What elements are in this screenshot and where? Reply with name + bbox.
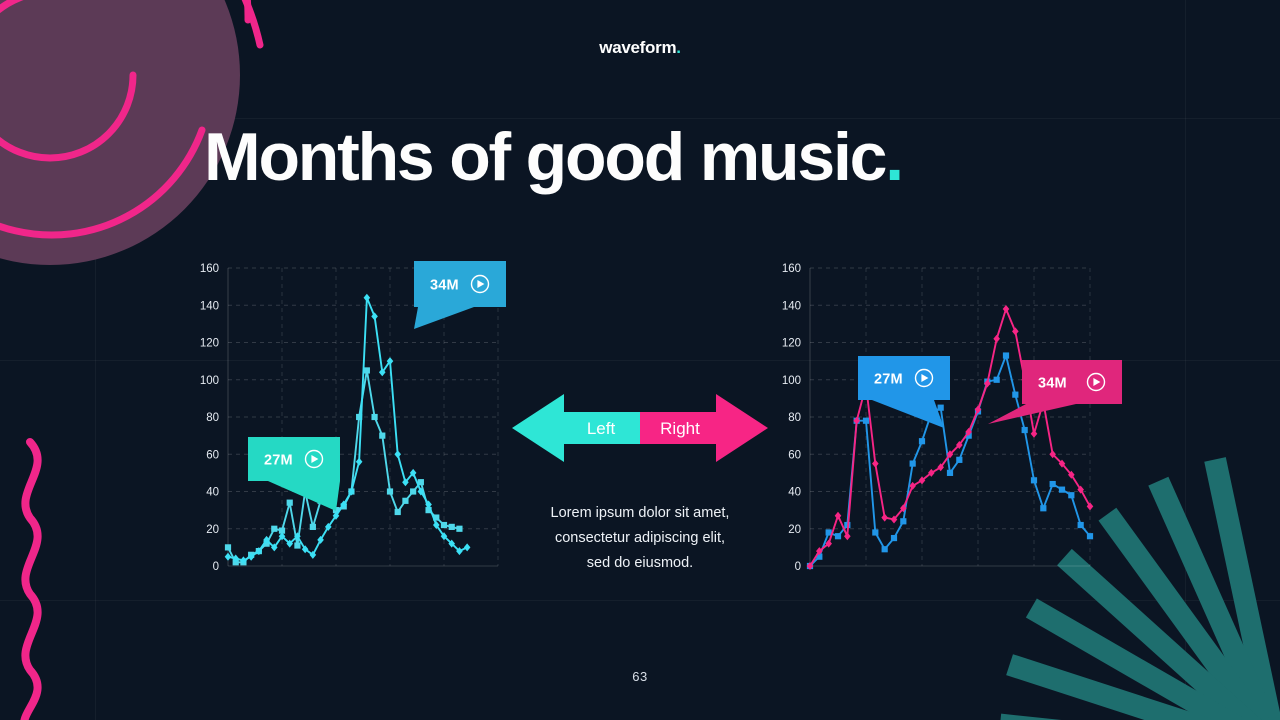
chart-data-point bbox=[379, 433, 385, 439]
chart-data-point bbox=[1078, 522, 1084, 528]
chart-data-point bbox=[287, 500, 293, 506]
slide-root: waveform. Months of good music. 02040608… bbox=[0, 0, 1280, 720]
center-body-text: Lorem ipsum dolor sit amet, consectetur … bbox=[504, 501, 776, 576]
chart-left-canvas: 020406080100120140160 bbox=[188, 258, 508, 588]
center-body-line-3: sed do eiusmod. bbox=[504, 551, 776, 576]
y-axis-tick-label: 60 bbox=[788, 449, 801, 461]
chart-data-point bbox=[956, 457, 962, 463]
chart-series-line bbox=[810, 309, 1090, 566]
chart-data-point bbox=[1021, 376, 1028, 384]
chart-series-line bbox=[810, 356, 1090, 567]
y-axis-tick-label: 100 bbox=[200, 375, 219, 387]
y-axis-tick-label: 20 bbox=[206, 524, 219, 536]
chart-data-point bbox=[1040, 398, 1047, 406]
chart-data-point bbox=[456, 526, 462, 532]
page-title-text: Months of good music bbox=[204, 119, 885, 195]
chart-data-point bbox=[900, 518, 906, 524]
chart-data-point bbox=[881, 514, 888, 522]
chart-data-point bbox=[872, 529, 878, 535]
chart-data-point bbox=[928, 410, 934, 416]
y-axis-tick-label: 80 bbox=[788, 412, 801, 424]
chart-data-point bbox=[1003, 305, 1010, 313]
chart-data-point bbox=[863, 381, 870, 389]
chart-data-point bbox=[302, 488, 308, 494]
chart-data-point bbox=[1012, 327, 1019, 335]
chart-data-point bbox=[364, 367, 370, 373]
y-axis-tick-label: 80 bbox=[206, 412, 219, 424]
chart-data-point bbox=[225, 544, 231, 550]
chart-right-canvas: 020406080100120140160 bbox=[770, 258, 1100, 588]
page-number: 63 bbox=[0, 669, 1280, 684]
chart-data-point bbox=[863, 418, 869, 424]
chart-data-point bbox=[1050, 481, 1056, 487]
chart-data-point bbox=[371, 414, 377, 420]
y-axis-tick-label: 100 bbox=[782, 375, 801, 387]
y-axis-tick-label: 20 bbox=[788, 524, 801, 536]
chart-data-point bbox=[891, 535, 897, 541]
chart-data-point bbox=[882, 546, 888, 552]
y-axis-tick-label: 40 bbox=[206, 487, 219, 499]
chart-data-point bbox=[402, 498, 408, 504]
grid-line-vertical bbox=[95, 0, 96, 720]
y-axis-tick-label: 120 bbox=[782, 338, 801, 350]
grid-line-horizontal bbox=[0, 600, 1280, 601]
y-axis-tick-label: 0 bbox=[795, 561, 801, 573]
grid-line-vertical bbox=[1185, 0, 1186, 720]
brand-dot: . bbox=[676, 38, 680, 57]
chart-data-point bbox=[317, 498, 323, 504]
y-axis-tick-label: 140 bbox=[200, 300, 219, 312]
chart-data-point bbox=[919, 438, 925, 444]
left-right-arrow-banner[interactable]: Left Right bbox=[504, 388, 776, 468]
chart-data-point bbox=[835, 533, 841, 539]
chart-data-point bbox=[1031, 477, 1037, 483]
center-body-line-1: Lorem ipsum dolor sit amet, bbox=[504, 501, 776, 526]
chart-data-point bbox=[271, 526, 277, 532]
brand-name: waveform bbox=[599, 38, 676, 57]
chart-data-point bbox=[294, 542, 300, 548]
chart-data-point bbox=[441, 522, 447, 528]
y-axis-tick-label: 160 bbox=[782, 263, 801, 275]
center-body-line-2: consectetur adipiscing elit, bbox=[504, 526, 776, 551]
y-axis-tick-label: 40 bbox=[788, 487, 801, 499]
chart-data-point bbox=[1059, 487, 1065, 493]
chart-data-point bbox=[410, 488, 416, 494]
y-axis-tick-label: 0 bbox=[213, 561, 219, 573]
chart-data-point bbox=[1087, 533, 1093, 539]
chart-series-line bbox=[228, 298, 467, 561]
chart-data-point bbox=[364, 294, 371, 302]
y-axis-tick-label: 160 bbox=[200, 263, 219, 275]
page-title-dot: . bbox=[885, 119, 902, 195]
chart-data-point bbox=[938, 405, 944, 411]
chart-data-point bbox=[994, 377, 1000, 383]
chart-data-point bbox=[1068, 492, 1074, 498]
chart-data-point bbox=[464, 543, 471, 551]
chart-data-point bbox=[1012, 392, 1018, 398]
y-axis-tick-label: 120 bbox=[200, 338, 219, 350]
chart-data-point bbox=[1031, 430, 1038, 438]
chart-data-point bbox=[872, 460, 879, 468]
arrow-left-label: Left bbox=[587, 419, 616, 438]
chart-data-point bbox=[395, 509, 401, 515]
brand-logo: waveform. bbox=[0, 38, 1280, 58]
chart-left[interactable]: 020406080100120140160 bbox=[188, 258, 508, 588]
y-axis-tick-label: 140 bbox=[782, 300, 801, 312]
center-column: Left Right Lorem ipsum dolor sit amet, c… bbox=[504, 388, 776, 576]
chart-right[interactable]: 020406080100120140160 bbox=[770, 258, 1100, 588]
chart-data-point bbox=[947, 470, 953, 476]
chart-data-point bbox=[993, 335, 1000, 343]
chart-data-point bbox=[1003, 352, 1009, 358]
chart-data-point bbox=[449, 524, 455, 530]
chart-data-point bbox=[1022, 427, 1028, 433]
page-title: Months of good music. bbox=[204, 116, 902, 198]
chart-data-point bbox=[1040, 505, 1046, 511]
chart-data-point bbox=[325, 498, 331, 504]
chart-data-point bbox=[356, 458, 363, 466]
chart-data-point bbox=[310, 524, 316, 530]
chart-data-point bbox=[394, 450, 401, 458]
y-axis-tick-label: 60 bbox=[206, 449, 219, 461]
arrow-right-label: Right bbox=[660, 419, 700, 438]
chart-data-point bbox=[387, 488, 393, 494]
chart-series-line bbox=[228, 370, 459, 562]
chart-data-point bbox=[371, 312, 378, 320]
chart-data-point bbox=[910, 460, 916, 466]
